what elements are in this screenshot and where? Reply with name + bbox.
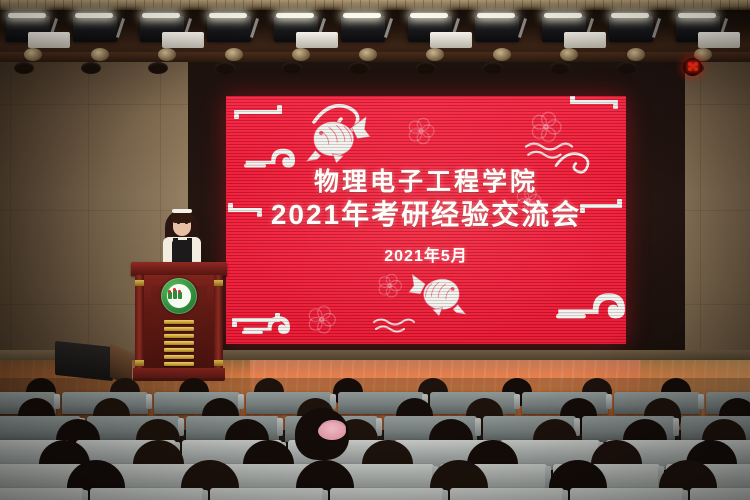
- light-disc-6: [359, 48, 377, 61]
- podium-lectern: [131, 262, 227, 382]
- seat-armrest: [682, 490, 688, 500]
- ceiling-truss: [0, 0, 750, 62]
- light-disc-1: [24, 48, 42, 61]
- seat-armrest: [673, 418, 679, 436]
- stage-light-bulb-2: [75, 13, 113, 18]
- seat-armrest: [698, 394, 704, 409]
- light-housing-3: [162, 32, 204, 48]
- audience-seat: [90, 488, 204, 500]
- presenter-eye-right: [185, 222, 188, 224]
- stage-light-bulb-1: [8, 13, 46, 18]
- podium-stripe-7: [164, 362, 194, 366]
- screen-title-line1: 物理电子工程学院: [226, 168, 626, 198]
- podium-gold-cap-tl: [135, 280, 144, 286]
- audience-area: [0, 378, 750, 500]
- presenter-eye-left: [177, 222, 180, 224]
- ceiling-recess-4: [215, 62, 235, 74]
- podium-pillar-right: [214, 275, 223, 369]
- stage-light-8: [475, 16, 519, 42]
- podium-stripe-2: [164, 327, 194, 331]
- light-housing-1: [28, 32, 70, 48]
- ceiling-recess-1: [14, 62, 34, 74]
- light-housing-5: [296, 32, 338, 48]
- seat-armrest: [238, 394, 244, 409]
- audience-seat: [0, 488, 84, 500]
- podium-stripe-5: [164, 348, 194, 352]
- screen-title-block: 物理电子工程学院 2021年考研经验交流会 2021年5月: [226, 168, 626, 266]
- emblem-leaf-right: [178, 290, 181, 293]
- audience-seat: [330, 488, 444, 500]
- ceiling-trim-strip: [0, 0, 750, 10]
- light-disc-2: [91, 48, 109, 61]
- stage-light-4: [207, 16, 251, 42]
- podium-top-desk: [131, 262, 227, 276]
- emblem-tree-left: [168, 292, 172, 299]
- seat-armrest: [202, 490, 208, 500]
- ceiling-recess-8: [483, 62, 503, 74]
- seat-armrest: [606, 394, 612, 409]
- stage-light-bulb-11: [678, 13, 716, 18]
- screen-date-line: 2021年5月: [226, 242, 626, 266]
- podium-gold-cap-tr: [214, 280, 223, 286]
- stage-light-bulb-10: [611, 13, 649, 18]
- stage-light-yoke-4: [250, 18, 259, 38]
- university-seal-emblem: [161, 278, 197, 314]
- stage-light-yoke-10: [652, 18, 661, 38]
- screen-title-line2: 2021年考研经验交流会: [226, 198, 626, 232]
- hair-bow-accessory-visible: [318, 422, 346, 440]
- ceiling-recess-7: [416, 62, 436, 74]
- monitor-grille: [55, 341, 113, 381]
- podium-gold-cap-br: [214, 360, 223, 366]
- stage-light-bulb-4: [209, 13, 247, 18]
- ceiling-recess-3: [148, 62, 168, 74]
- stage-light-yoke-8: [518, 18, 527, 38]
- seat-armrest: [442, 490, 448, 500]
- red-indicator-light: [683, 58, 702, 76]
- auditorium-photo: 物理电子工程学院 2021年考研经验交流会 2021年5月: [0, 0, 750, 500]
- podium-pillar-left: [135, 275, 144, 369]
- seat-armrest: [146, 394, 152, 409]
- seat-armrest: [475, 418, 481, 436]
- light-disc-4: [225, 48, 243, 61]
- stage-light-10: [609, 16, 653, 42]
- podium-stripe-1: [164, 320, 194, 324]
- seat-armrest: [562, 490, 568, 500]
- light-disc-7: [426, 48, 444, 61]
- ceiling-recess-10: [617, 62, 637, 74]
- stage-light-bulb-7: [410, 13, 448, 18]
- emblem-leaf-center: [173, 288, 176, 291]
- stage-light-bulb-9: [544, 13, 582, 18]
- seat-armrest: [514, 394, 520, 409]
- light-disc-3: [158, 48, 176, 61]
- stage-light-bulb-3: [142, 13, 180, 18]
- seat-armrest: [322, 490, 328, 500]
- emblem-tree-right: [178, 292, 182, 299]
- stage-light-yoke-6: [384, 18, 393, 38]
- light-housing-7: [430, 32, 472, 48]
- stage-light-bulb-5: [276, 13, 314, 18]
- stage-light-6: [341, 16, 385, 42]
- ceiling-recess-6: [349, 62, 369, 74]
- emblem-tree-center: [173, 290, 177, 299]
- presenter-speaker: [159, 204, 205, 266]
- seat-armrest: [82, 490, 88, 500]
- podium-gold-cap-bl: [135, 360, 144, 366]
- led-display-screen[interactable]: 物理电子工程学院 2021年考研经验交流会 2021年5月: [226, 96, 626, 344]
- audience-seat: [450, 488, 564, 500]
- light-housing-11: [698, 32, 740, 48]
- ceiling-recess-5: [282, 62, 302, 74]
- ceiling-recess-9: [550, 62, 570, 74]
- light-disc-9: [560, 48, 578, 61]
- light-housing-9: [564, 32, 606, 48]
- stage-light-bulb-6: [343, 13, 381, 18]
- light-disc-10: [627, 48, 645, 61]
- ceiling-recess-2: [81, 62, 101, 74]
- seat-armrest: [277, 418, 283, 436]
- podium-stripe-6: [164, 355, 194, 359]
- presenter-headband: [172, 209, 192, 213]
- audience-seat: [570, 488, 684, 500]
- podium-stripe-3: [164, 334, 194, 338]
- podium-stripe-4: [164, 341, 194, 345]
- audience-seat: [210, 488, 324, 500]
- stage-light-2: [73, 16, 117, 42]
- light-disc-8: [493, 48, 511, 61]
- seat-armrest: [54, 394, 60, 409]
- stage-light-yoke-2: [116, 18, 125, 38]
- light-disc-5: [292, 48, 310, 61]
- stage-light-bulb-8: [477, 13, 515, 18]
- emblem-leaf-left: [168, 290, 171, 293]
- audience-seat: [690, 488, 750, 500]
